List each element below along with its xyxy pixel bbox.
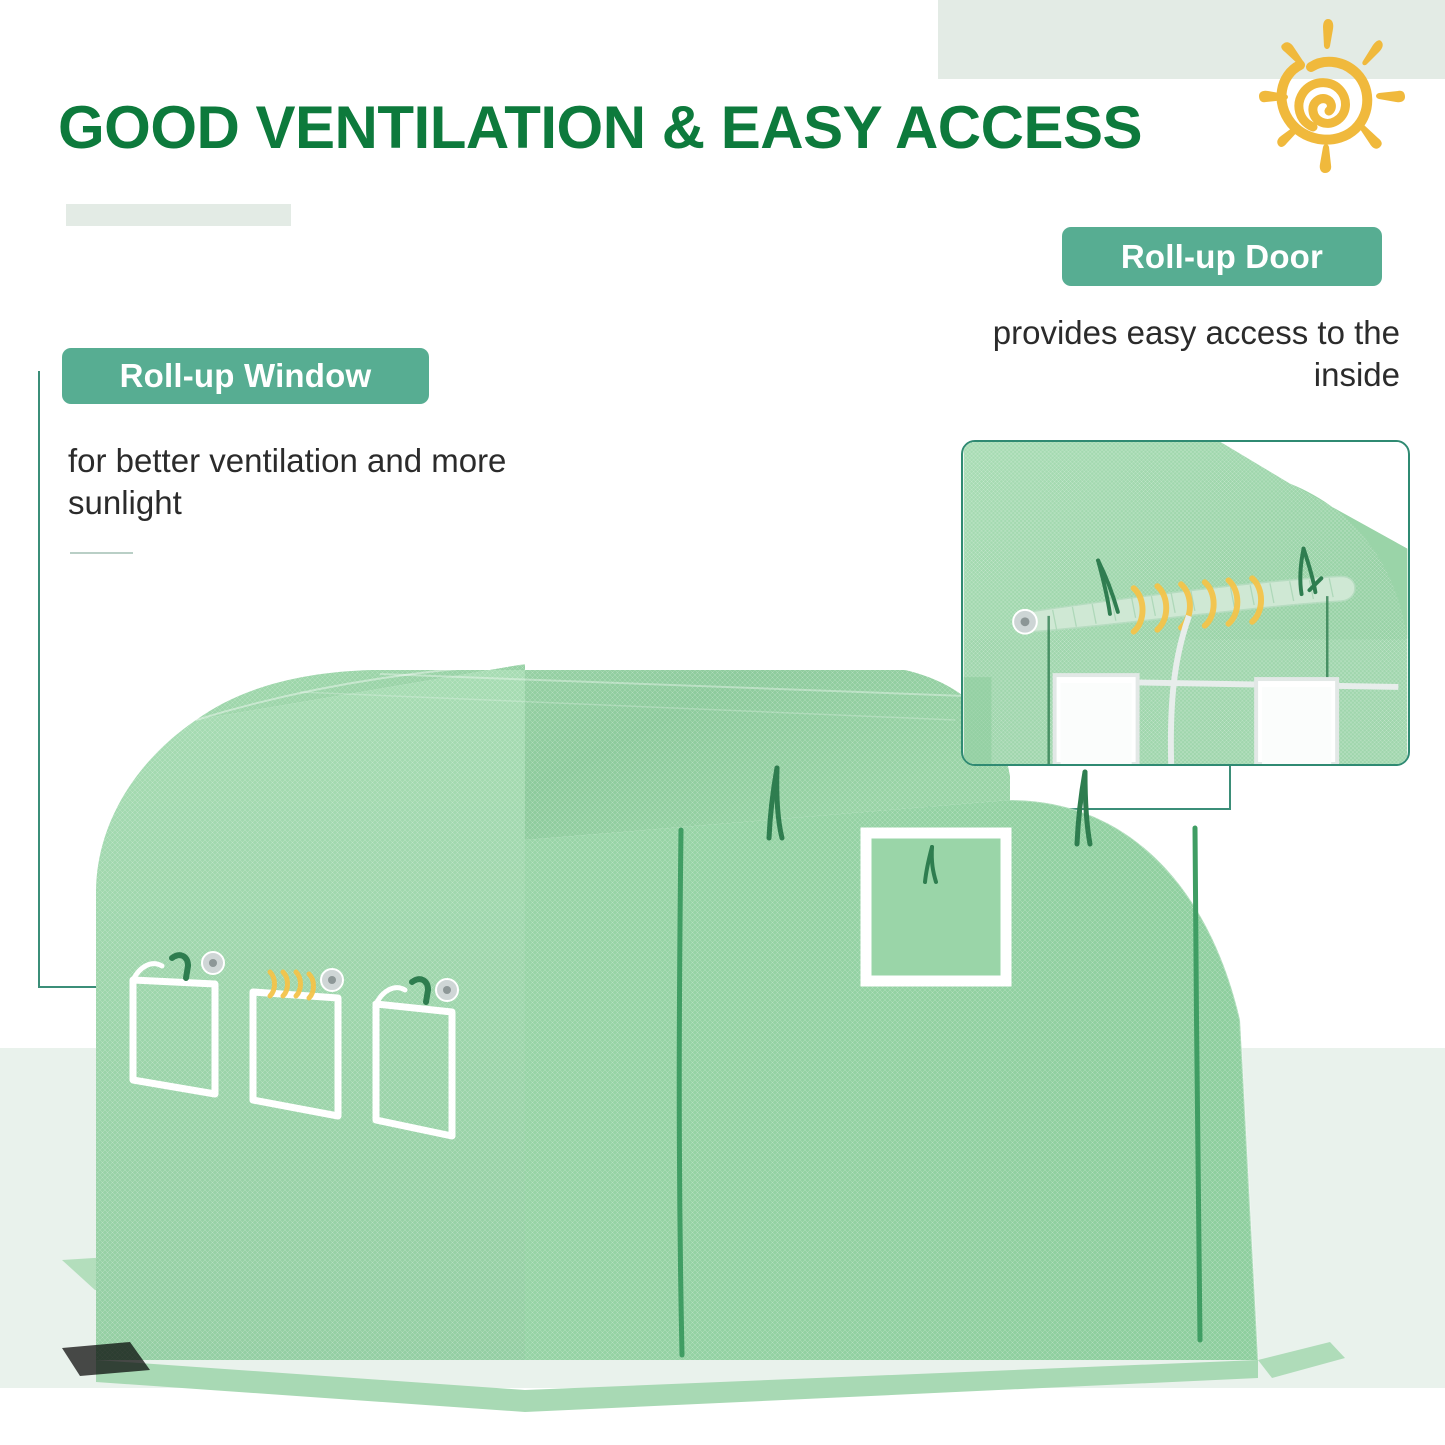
- infographic-canvas: GOOD VENTILATION & EASY ACCESS Roll-up W…: [0, 0, 1445, 1445]
- inset-window-right: [1256, 679, 1337, 764]
- front-zipper-left: [679, 830, 682, 1355]
- inset-closeup-roll-up-door: [961, 440, 1410, 766]
- sun-spiral-icon: [1253, 13, 1413, 176]
- page-title: GOOD VENTILATION & EASY ACCESS: [58, 93, 1178, 162]
- divider-roll-up-window: [70, 552, 133, 554]
- description-roll-up-door: provides easy access to the inside: [940, 312, 1400, 396]
- base-skirt: [96, 1360, 1258, 1412]
- inset-window-left: [1055, 675, 1138, 764]
- decorative-block-title-bar: [66, 204, 291, 226]
- badge-roll-up-door: Roll-up Door: [1062, 227, 1382, 286]
- badge-roll-up-window: Roll-up Window: [62, 348, 429, 404]
- front-vent-window: [866, 833, 1006, 981]
- description-roll-up-window: for better ventilation and more sunlight: [68, 440, 588, 524]
